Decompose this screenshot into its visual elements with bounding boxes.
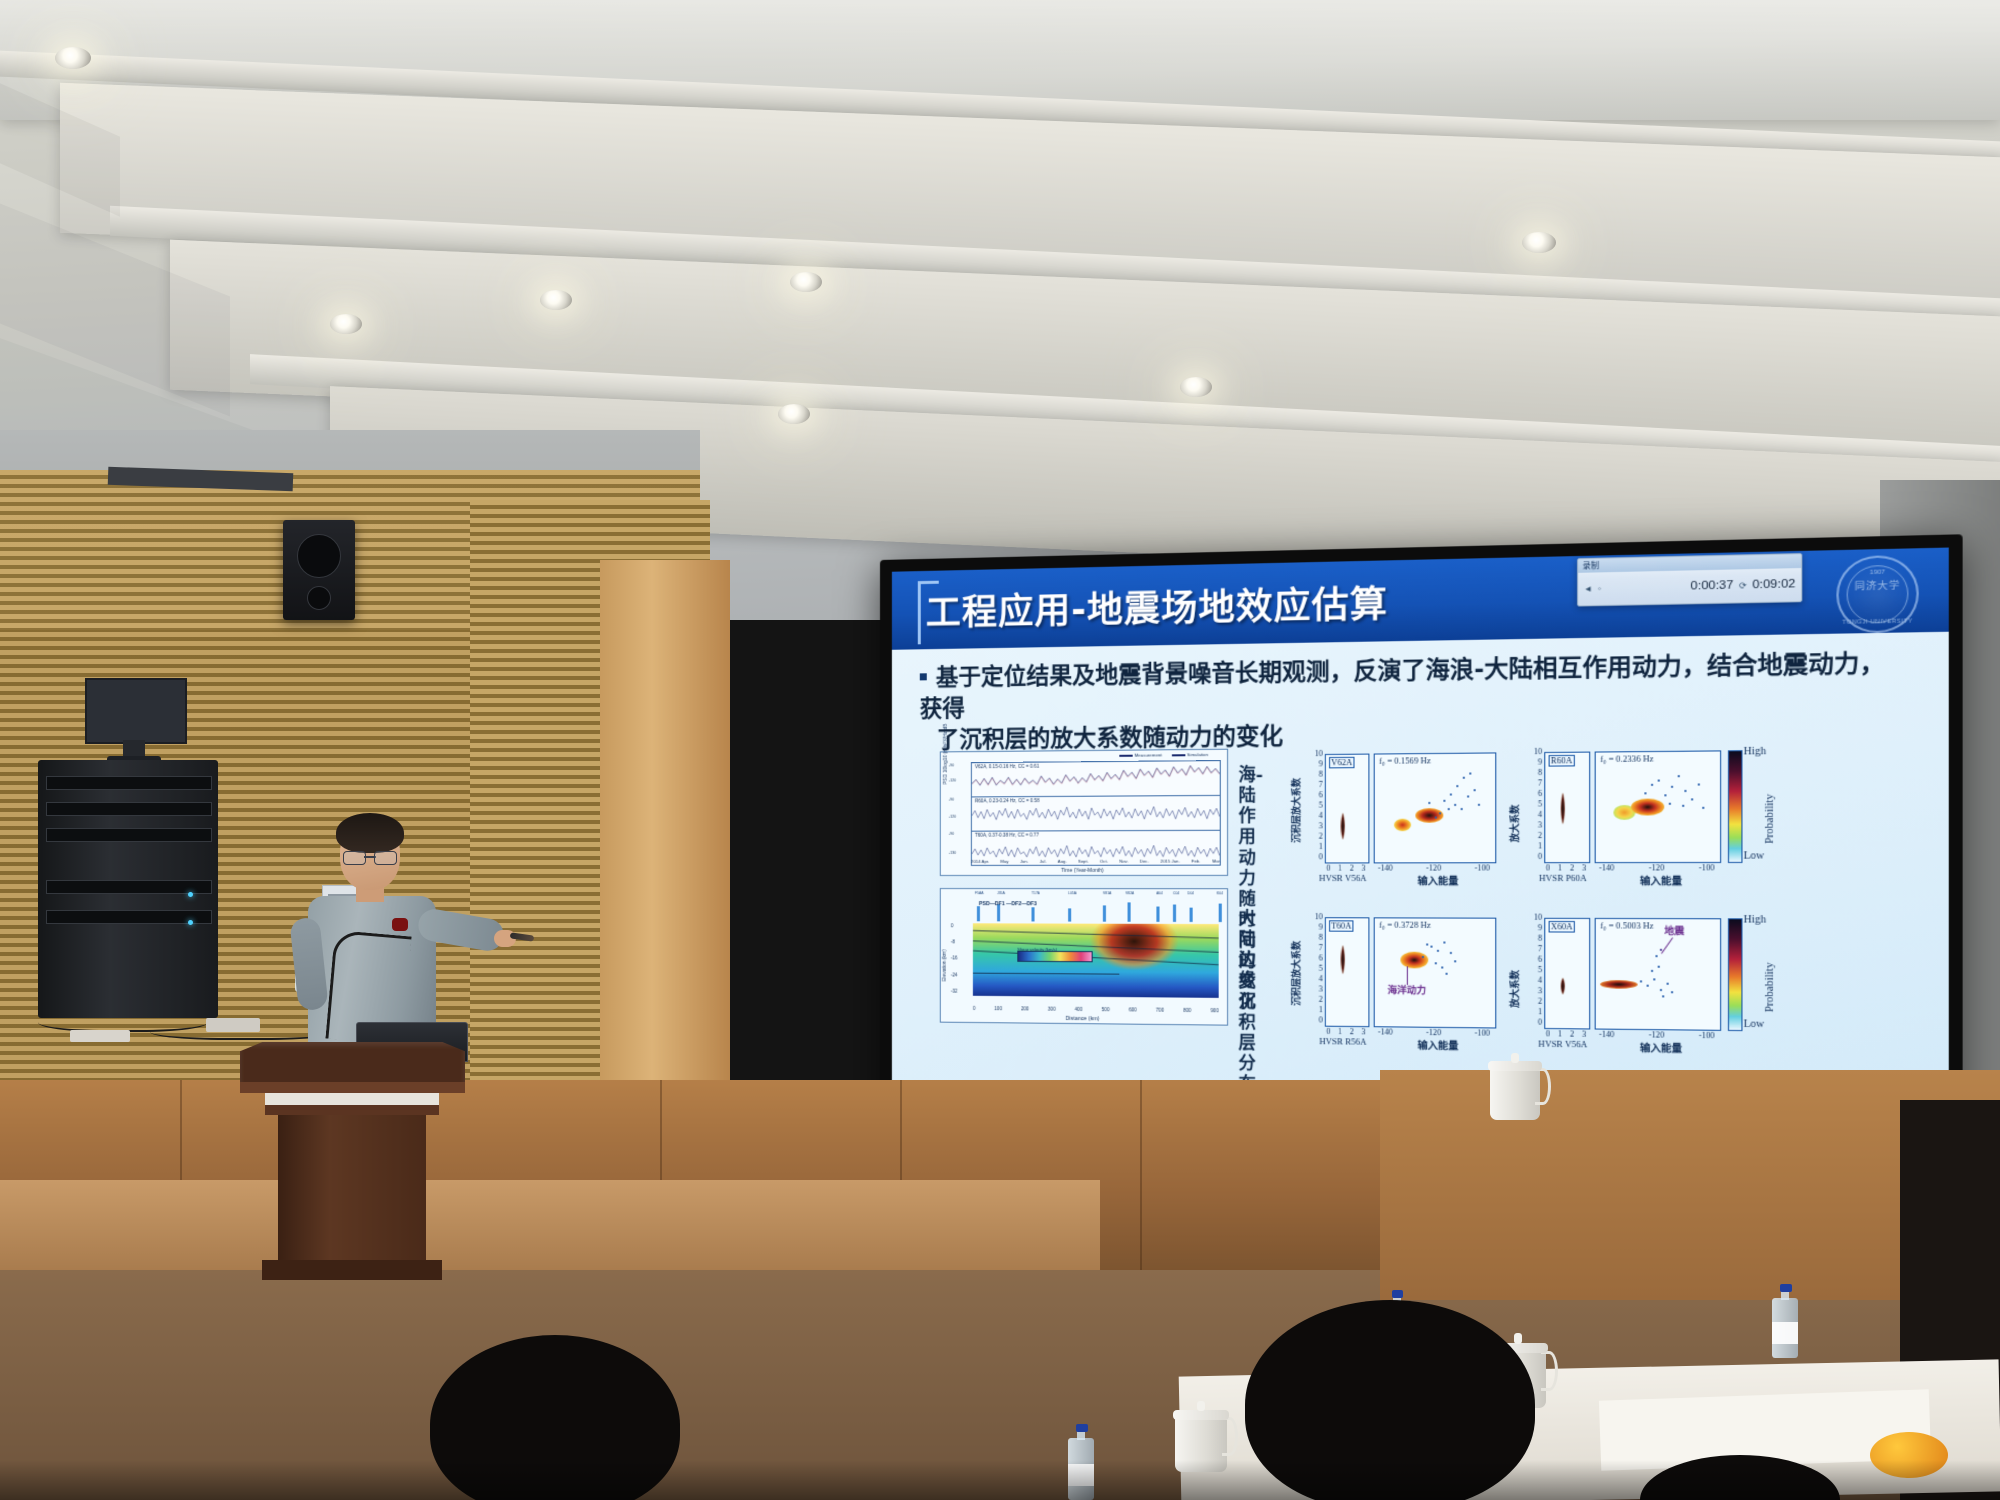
timer-repeat-icon[interactable]: ⟳ [1739, 580, 1747, 590]
logo-year: 1907 [1839, 569, 1917, 577]
hvsr-xticks: 01 23 [1542, 863, 1590, 873]
colorbar-label: Probability [1764, 794, 1776, 844]
ocean-annotation: 海洋动力 [1388, 983, 1427, 997]
scatter-ylabel: 放大系数 [1507, 805, 1521, 843]
power-strip [206, 1018, 260, 1032]
psd-timeseries-chart: PSD 10log10 (m/s²)²/Hz dB Measurement Si… [940, 749, 1228, 876]
timer-pause-icon[interactable]: ◦ [1598, 583, 1601, 593]
podium-base [262, 1260, 442, 1280]
table-shadow [0, 1460, 2000, 1500]
psd-panel: V62A, 0.15-0.16 Hz, CC = 0.61 [971, 760, 1221, 797]
hvsr-xticks: 01 23 [1542, 1029, 1590, 1039]
timer-elapsed: 0:00:37 [1691, 579, 1734, 593]
scatter-ylabel: 放大系数 [1507, 970, 1521, 1008]
scatter-xlabel: 输入能量 [1603, 873, 1719, 888]
xsec-velocity-image: Shear velocity (km/s) [973, 923, 1219, 998]
shear-velocity-colorbar-label: Shear velocity (km/s) [1017, 947, 1057, 952]
scatter-panel-r60a: 放大系数 10 9 8 7 6 5 4 3 2 1 0 R60A [1512, 740, 1728, 889]
scatter-xticks: -140-120 -100 [1592, 863, 1721, 873]
podium-white-band [265, 1093, 439, 1105]
hvsr-subpanel: T60A [1325, 917, 1370, 1027]
glasses-icon [343, 851, 397, 863]
podium-top [240, 1042, 465, 1084]
probability-colorbar [1728, 918, 1743, 1031]
auditorium-photo: 工程应用-地震场地效应估算 1907 同济大学 TONGJI UNIVERSIT… [0, 0, 2000, 1500]
hvsr-subpanel: R60A [1544, 752, 1590, 864]
status-led [188, 892, 193, 897]
station-tag: R60A [1549, 755, 1575, 767]
scatter-panel-x60a: 放大系数 10 9 8 7 6 5 4 3 2 1 0 X60A [1512, 907, 1728, 1056]
water-bottle-table [1772, 1280, 1798, 1358]
psd-xticks: 2014 Apr.May Jun.Jul. Aug.Sept. Oct.Nov.… [971, 858, 1221, 863]
colorbar-high-label: High [1744, 746, 1767, 758]
f0-label: f₀ = 0.2336 Hz [1600, 754, 1654, 764]
station-tag: X60A [1549, 921, 1575, 933]
psd-ylabel: PSD 10log10 (m/s²)²/Hz dB [943, 724, 949, 785]
equipment-rack[interactable] [38, 760, 218, 1018]
xsec-ylabel: Elevation (km) [942, 949, 948, 981]
xsec-yticks: 0 -8 -16 -24 -32 [951, 923, 971, 996]
scatter-xlabel: 输入能量 [1382, 873, 1494, 888]
ceiling-light [1180, 377, 1212, 397]
station-tag: T60A [1329, 920, 1354, 931]
bullet-square-icon [920, 673, 927, 680]
psd-legend-simulation: Simulation [1187, 752, 1208, 757]
wall-speaker [283, 520, 355, 620]
ceiling-light [790, 272, 822, 292]
psd-waveform [972, 761, 1220, 797]
monitor-screen [85, 678, 187, 744]
scatter-panel-v62a: 沉积层放大系数 10 9 8 7 6 5 4 3 2 1 0 V62A [1293, 742, 1503, 888]
psd-waveform [972, 796, 1220, 831]
logo-cn-name: 同济大学 [1839, 577, 1917, 593]
presenter-hair [336, 813, 404, 853]
psd-legend-measurement: Measurement [1134, 752, 1162, 757]
psd-xlabel: Time (Year-Month) [941, 868, 1227, 874]
podium-edge [240, 1082, 465, 1093]
hvsr-subpanel: X60A [1544, 918, 1590, 1030]
scatter-subpanel: f₀ = 0.3728 Hz 海洋动力 [1374, 917, 1497, 1028]
timer-prev-icon[interactable]: ◄ [1584, 584, 1593, 594]
slide-bullet: 基于定位结果及地震背景噪音长期观测，反演了海浪-大陆相互作用动力，结合地震动力，… [920, 648, 1905, 757]
xsec-xticks: 0100 200300 400500 600700 800900 [973, 1006, 1219, 1013]
f0-label: f₀ = 0.3728 Hz [1379, 920, 1431, 930]
ceiling-light [540, 290, 572, 310]
recording-timer-toolbar[interactable]: 录制 ◄ ◦ 0:00:37 ⟳ 0:09:02 [1577, 553, 1802, 607]
scatter-ylabel: 沉积层放大系数 [1289, 778, 1303, 843]
colorbar-low-label: Low [1744, 1018, 1765, 1030]
crustal-cross-section-chart: F5AAJ35A T17AL05A V81AV82A A04C04 D04K04… [940, 888, 1228, 1026]
hvsr-xlabel: HVSR V56A [1522, 1039, 1603, 1049]
podium-dark-band [265, 1105, 439, 1115]
colorbar-high-label: High [1744, 914, 1767, 926]
hvsr-xlabel: HVSR R56A [1304, 1037, 1383, 1047]
colorbar-label: Probability [1764, 962, 1776, 1012]
earthquake-annotation-line [1661, 937, 1673, 953]
scatter-panel-t60a: 沉积层放大系数 10 9 8 7 6 5 4 3 2 1 0 T60A [1293, 907, 1503, 1054]
psd-panel: R60A, 0.23-0.24 Hz, CC = 0.58 [971, 795, 1221, 832]
ceiling-light [778, 404, 810, 424]
ceiling-light [330, 314, 362, 334]
station-tag: V62A [1329, 757, 1354, 769]
probability-colorbar [1728, 750, 1743, 863]
f0-label: f₀ = 0.1569 Hz [1379, 756, 1431, 766]
logo-en-name: TONGJI UNIVERSITY [1839, 618, 1917, 626]
hvsr-xlabel: HVSR P60A [1522, 874, 1603, 883]
f0-label: f₀ = 0.5003 Hz [1600, 921, 1654, 931]
xsec-legend: PSD—DF1 —DF2—DF3 [979, 901, 1037, 907]
hvsr-subpanel: V62A [1325, 754, 1370, 864]
bullet-line-1: 基于定位结果及地震背景噪音长期观测，反演了海浪-大陆相互作用动力，结合地震动力，… [920, 650, 1885, 723]
shear-velocity-colorbar [1017, 951, 1092, 963]
xsec-xlabel: Distance (km) [941, 1015, 1227, 1024]
scatter-xticks: -140-120 -100 [1372, 863, 1497, 872]
scatter-ylabel: 沉积层放大系数 [1289, 941, 1303, 1006]
psd-legend: Measurement Simulation [1119, 752, 1208, 758]
colorbar-low-label: Low [1744, 850, 1765, 862]
tongji-university-logo: 1907 同济大学 TONGJI UNIVERSITY [1836, 555, 1918, 634]
earthquake-annotation: 地震 [1664, 923, 1684, 937]
stage-monitor[interactable] [85, 678, 183, 766]
hvsr-xticks: 01 23 [1323, 863, 1370, 872]
scatter-subpanel: f₀ = 0.2336 Hz [1595, 750, 1722, 863]
mic-head [392, 918, 408, 931]
ceiling-light [1522, 232, 1556, 253]
ceiling-light [55, 47, 91, 69]
scatter-yticks: 10 9 8 7 6 5 4 3 2 1 0 [1308, 749, 1323, 863]
wood-pillar [600, 560, 730, 1100]
podium-column [278, 1115, 426, 1260]
scatter-subpanel: f₀ = 0.5003 Hz 地震 [1595, 918, 1722, 1031]
scatter-yticks: 10 9 8 7 6 5 4 3 2 1 0 [1527, 912, 1542, 1027]
hvsr-xlabel: HVSR V56A [1304, 874, 1383, 883]
power-strip [70, 1030, 130, 1042]
hvsr-xticks: 01 23 [1323, 1027, 1370, 1037]
scatter-yticks: 10 9 8 7 6 5 4 3 2 1 0 [1308, 912, 1323, 1026]
scatter-xlabel: 输入能量 [1382, 1037, 1494, 1053]
podium [240, 1042, 465, 1280]
scatter-yticks: 10 9 8 7 6 5 4 3 2 1 0 [1527, 747, 1542, 862]
timer-total: 0:09:02 [1752, 578, 1795, 592]
status-led [188, 920, 193, 925]
tea-mug [1490, 1050, 1540, 1120]
scatter-xlabel: 输入能量 [1603, 1039, 1719, 1055]
slide-title: 工程应用-地震场地效应估算 [926, 575, 1388, 636]
scatter-subpanel: f₀ = 0.1569 Hz [1374, 752, 1497, 863]
